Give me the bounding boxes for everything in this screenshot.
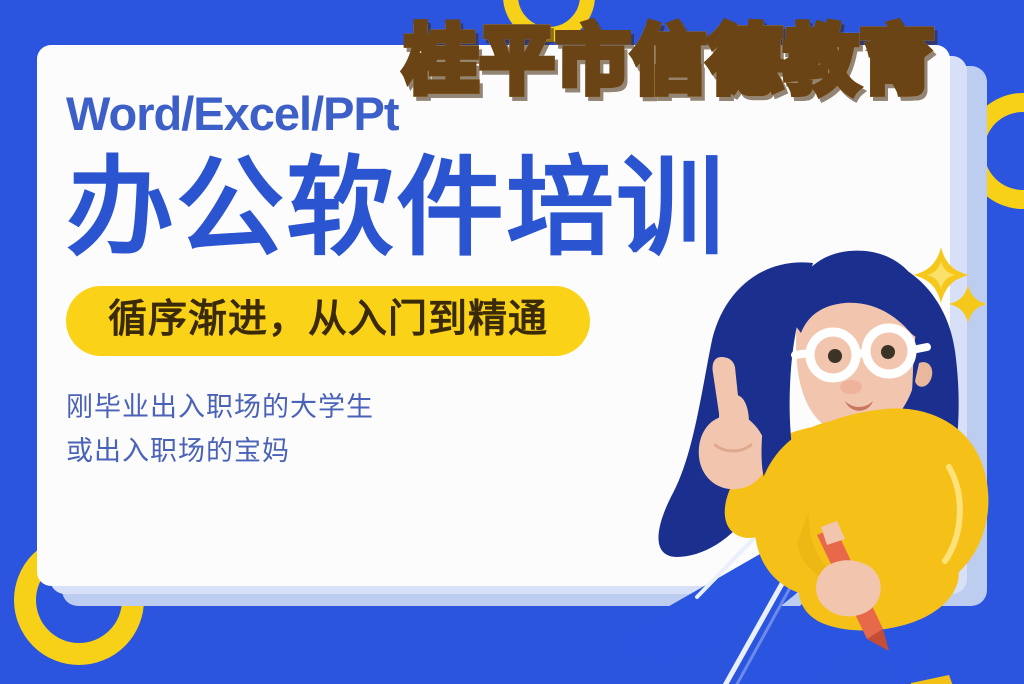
poster-text-block: Word/Excel/PPt 办公软件培训 循序渐进，从入门到精通 刚毕业出入职…: [66, 90, 766, 474]
audience-line-2: 或出入职场的宝妈: [66, 430, 766, 474]
watermark-text: 桂平市信德教育: [404, 24, 936, 98]
illustration-hand-holding: [816, 560, 881, 616]
tagline-badge-label: 循序渐进，从入门到精通: [108, 298, 548, 341]
page-title: 办公软件培训: [66, 151, 766, 264]
poster-canvas: Word/Excel/PPt 办公软件培训 循序渐进，从入门到精通 刚毕业出入职…: [0, 0, 1024, 684]
audience-list: 刚毕业出入职场的大学生 或出入职场的宝妈: [66, 386, 766, 473]
audience-line-1: 刚毕业出入职场的大学生: [66, 386, 766, 430]
sparkle-small-icon: [949, 285, 987, 323]
tagline-badge: 循序渐进，从入门到精通: [66, 286, 590, 356]
